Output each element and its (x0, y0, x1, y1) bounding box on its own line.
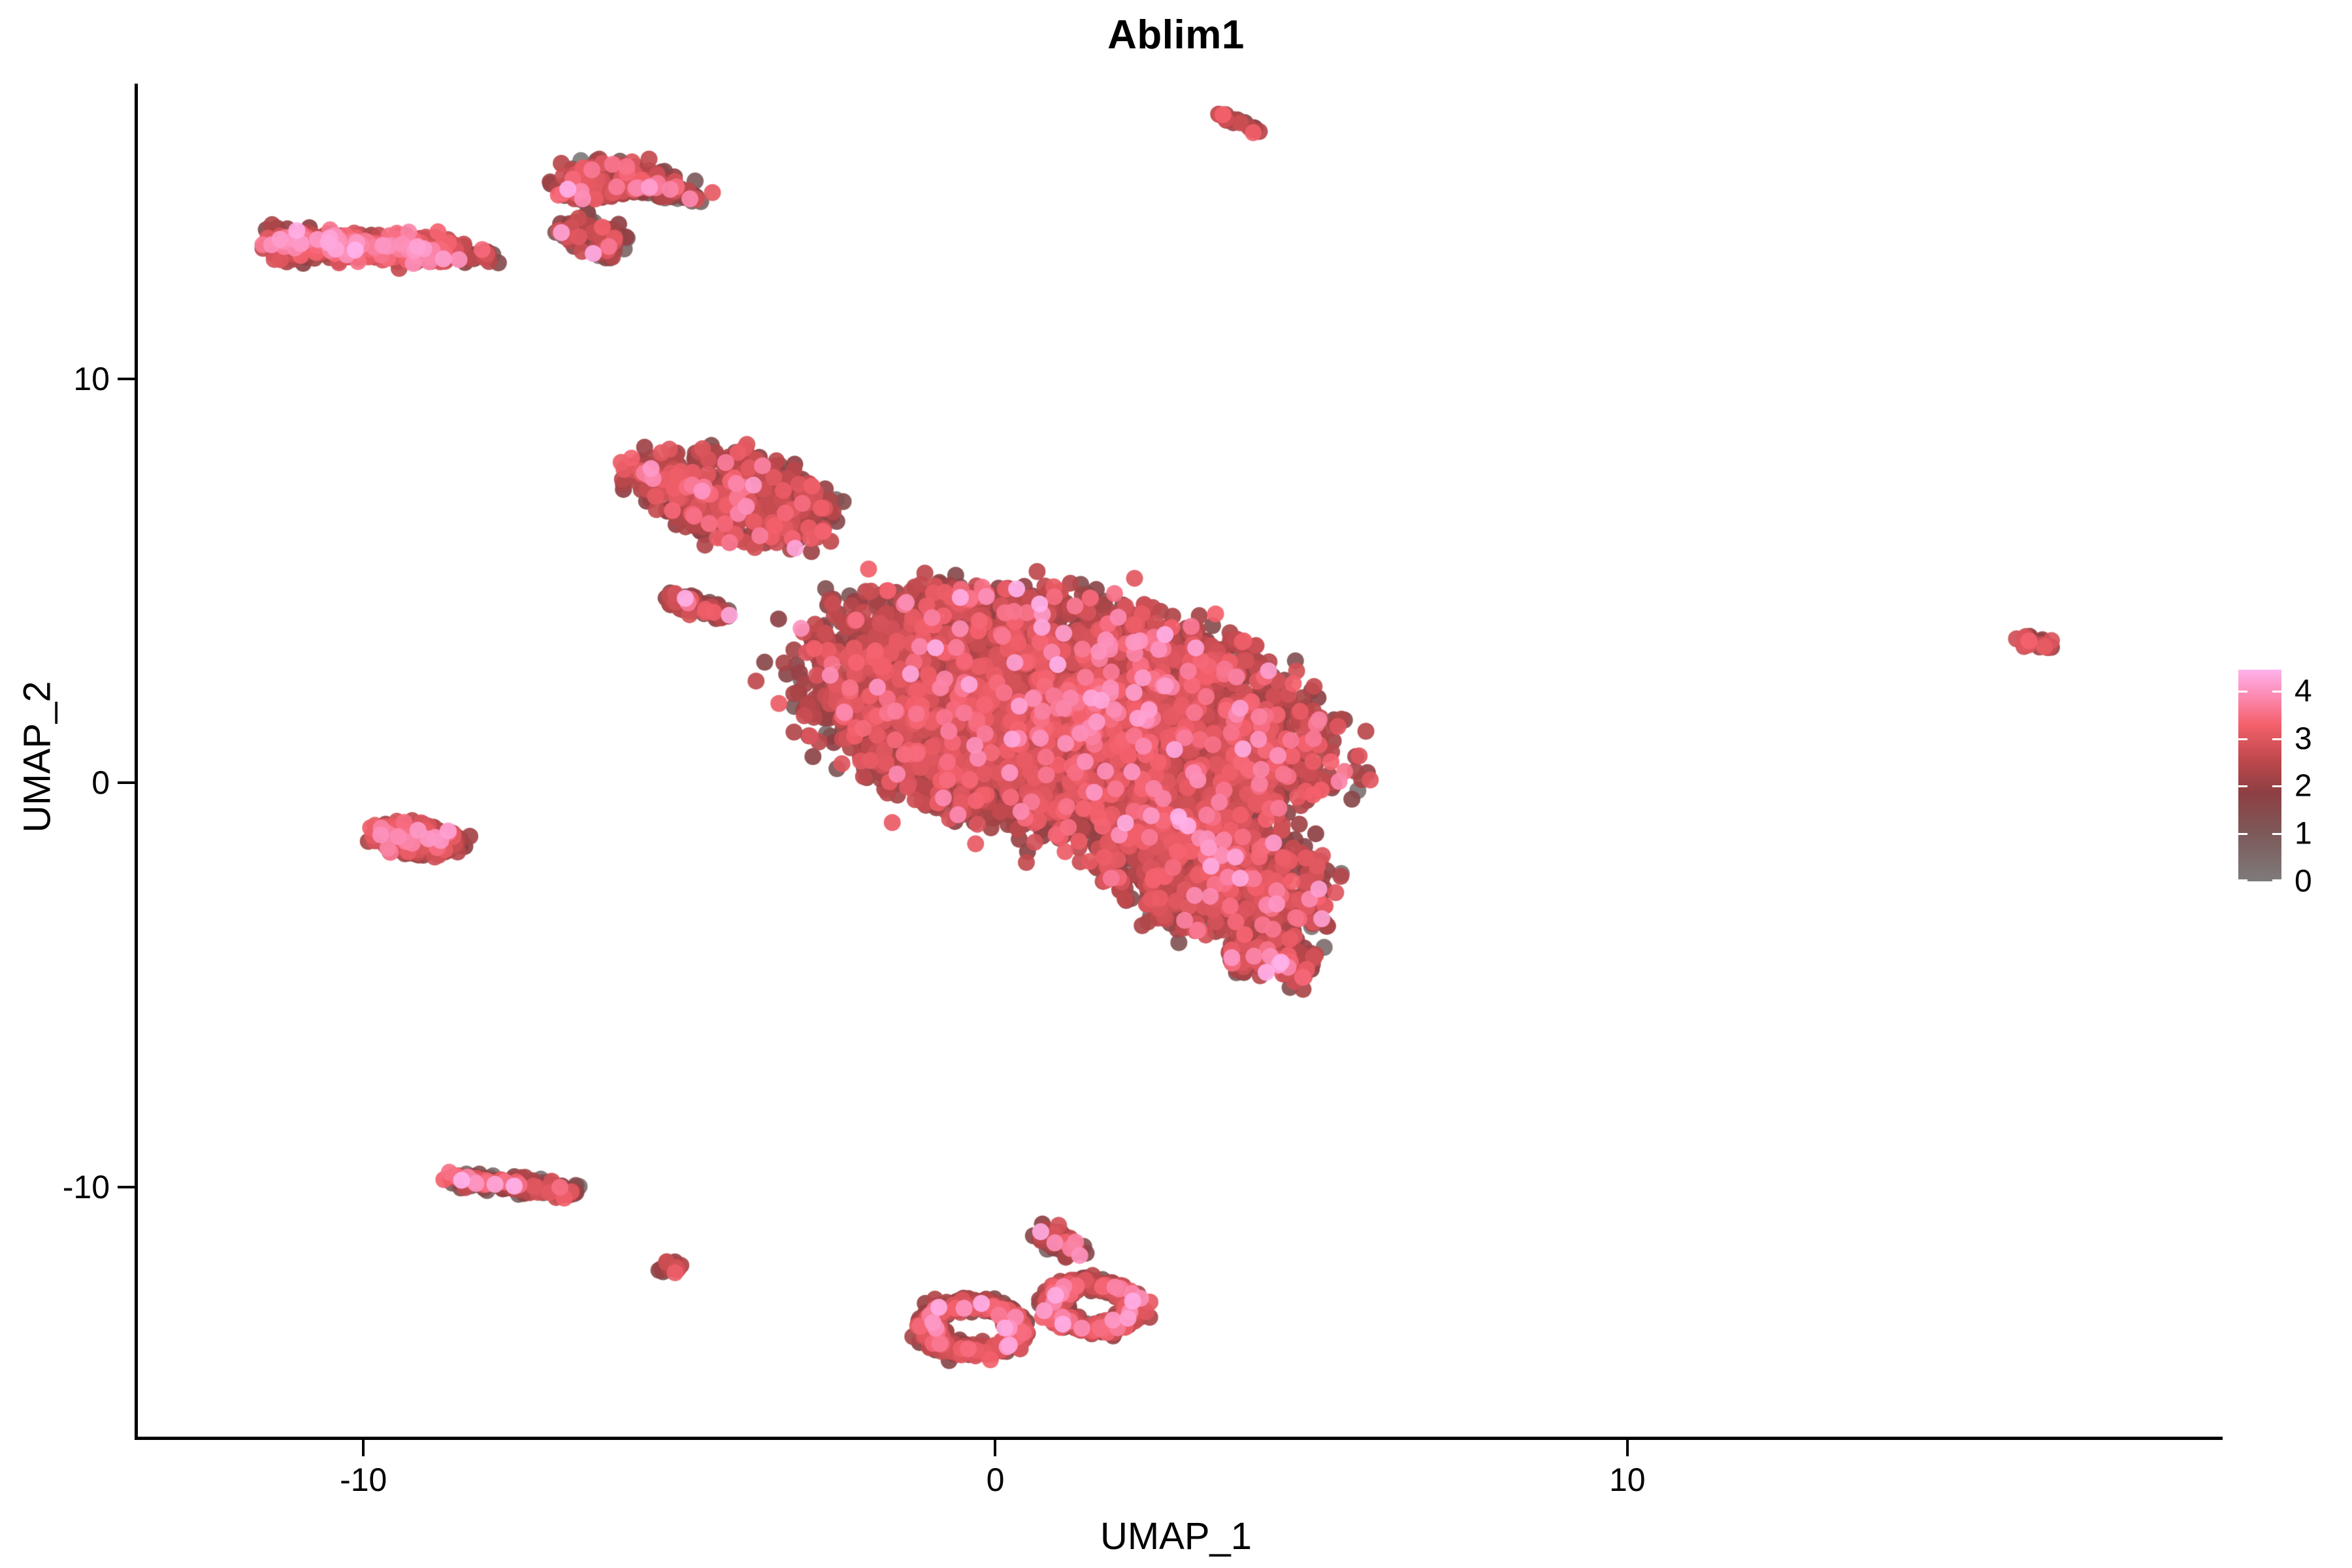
x-tick-label: -10 (340, 1461, 387, 1499)
x-tick-label: 0 (987, 1461, 1005, 1499)
color-legend[interactable]: 43210 (2238, 670, 2343, 885)
legend-tick-left (2238, 879, 2247, 881)
legend-label: 2 (2295, 768, 2312, 804)
scatter-plot-canvas (136, 84, 2221, 1437)
legend-tick-left (2238, 785, 2247, 787)
y-axis-title: UMAP_2 (16, 496, 59, 1019)
legend-tick-left (2238, 833, 2247, 835)
x-axis-title: UMAP_1 (0, 1514, 2352, 1558)
legend-tick-right (2272, 833, 2281, 835)
x-tick-mark (362, 1439, 365, 1456)
legend-label: 0 (2295, 864, 2312, 900)
legend-tick-right (2272, 691, 2281, 693)
page-title: Ablim1 (0, 12, 2352, 58)
legend-tick-right (2272, 738, 2281, 740)
x-tick-mark (1626, 1439, 1629, 1456)
legend-tick-left (2238, 738, 2247, 740)
plot-panel (136, 84, 2221, 1437)
umap-feature-plot: Ablim1 -10010 -10010 UMAP_1 UMAP_2 43210 (0, 0, 2352, 1568)
legend-label: 3 (2295, 721, 2312, 757)
y-tick-mark (118, 1186, 135, 1188)
y-tick-mark (118, 378, 135, 380)
legend-label: 4 (2295, 673, 2312, 709)
y-tick-label: 0 (91, 764, 110, 802)
x-tick-mark (994, 1439, 996, 1456)
x-axis-line (135, 1437, 2223, 1440)
legend-tick-left (2238, 691, 2247, 693)
x-tick-label: 10 (1609, 1461, 1646, 1499)
color-gradient-bar (2238, 670, 2281, 881)
legend-tick-right (2272, 785, 2281, 787)
y-axis-line (135, 84, 138, 1440)
legend-tick-right (2272, 879, 2281, 881)
y-tick-label: -10 (63, 1168, 110, 1206)
y-tick-mark (118, 781, 135, 784)
legend-label: 1 (2295, 816, 2312, 852)
y-tick-label: 10 (73, 360, 110, 398)
